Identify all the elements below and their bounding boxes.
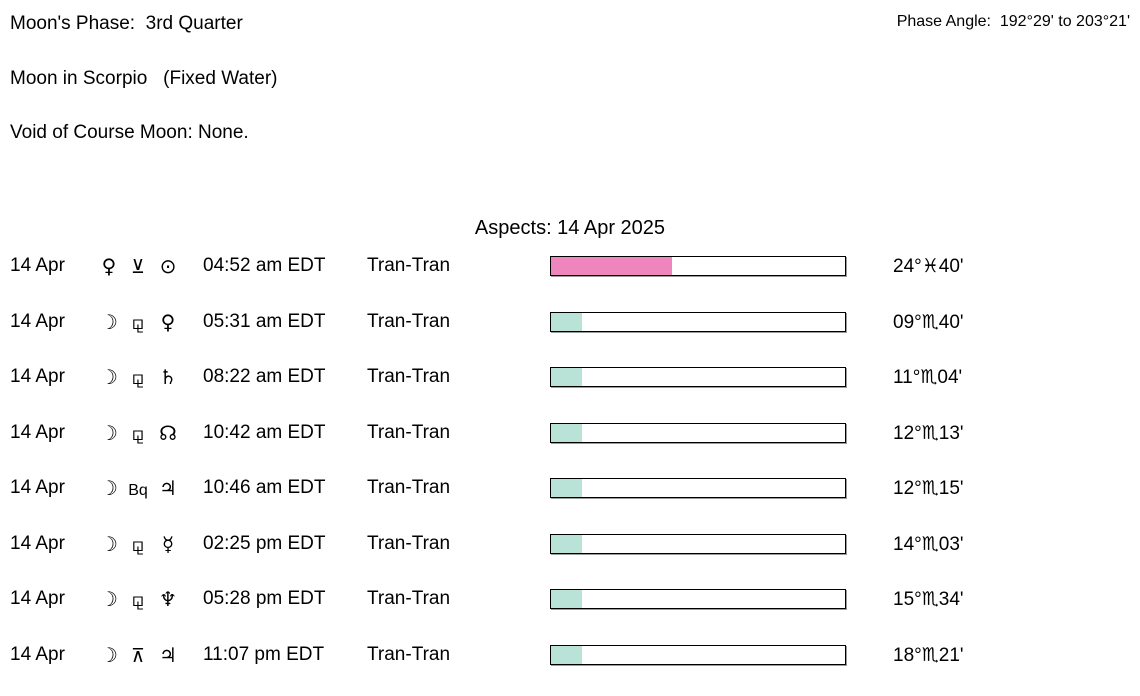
aspect-date: 14 Apr [10, 308, 65, 336]
position-minute: 03' [939, 534, 964, 555]
table-row: 14 Apr☽⊼♃11:07 pm EDTTran-Tran18°♏21' [0, 641, 1140, 696]
scorpio-icon: ♏ [922, 588, 939, 610]
phase-angle-label: Phase Angle: 192°29' to 203°21' [897, 12, 1130, 31]
aspect-position: 15°♏34' [893, 585, 964, 614]
aspect-strength-bar-fill [551, 535, 582, 553]
aspect-position: 18°♏21' [893, 641, 964, 670]
aspects-title: Aspects: 14 Apr 2025 [0, 216, 1140, 240]
aspect-time: 10:42 am EDT [203, 419, 326, 447]
aspect-strength-bar-fill [551, 479, 582, 497]
position-degree: 12° [893, 478, 922, 499]
scorpio-icon: ♏ [922, 477, 939, 499]
position-minute: 40' [939, 256, 964, 277]
jupiter-icon: ♃ [155, 641, 181, 669]
mercury-icon: ☿ [155, 530, 181, 558]
table-row: 14 Apr☽⚼♄08:22 am EDTTran-Tran11°♏04' [0, 363, 1140, 419]
aspect-glyph-group: ☽⊼♃ [97, 641, 207, 671]
biquintile-icon: Bq [121, 477, 155, 505]
aspect-glyph-group: ♀⊻⊙ [97, 252, 207, 282]
aspect-strength-bar-fill [551, 646, 582, 664]
scorpio-icon: ♏ [922, 422, 939, 444]
position-degree: 14° [893, 534, 922, 555]
aspects-table: 14 Apr♀⊻⊙04:52 am EDTTran-Tran24°♓40'14 … [0, 252, 1140, 696]
aspect-time: 11:07 pm EDT [203, 641, 324, 669]
aspect-date: 14 Apr [10, 530, 65, 558]
table-row: 14 Apr☽Bq♃10:46 am EDTTran-Tran12°♏15' [0, 474, 1140, 530]
position-degree: 11° [893, 367, 920, 388]
moon-icon: ☽ [97, 585, 121, 613]
moon-icon: ☽ [97, 419, 121, 447]
scorpio-icon: ♏ [920, 366, 937, 388]
aspect-strength-bar [550, 312, 846, 332]
aspect-glyph-group: ☽⚼♆ [97, 585, 207, 615]
position-minute: 15' [939, 478, 964, 499]
aspect-type: Tran-Tran [367, 419, 450, 447]
table-row: 14 Apr☽⚼☊10:42 am EDTTran-Tran12°♏13' [0, 419, 1140, 475]
position-degree: 18° [893, 645, 922, 666]
aspect-strength-bar-fill [551, 424, 582, 442]
position-degree: 15° [893, 589, 922, 610]
aspect-time: 04:52 am EDT [203, 252, 326, 280]
moon-sign-label: Moon in Scorpio (Fixed Water) [10, 68, 278, 90]
aspect-position: 24°♓40' [893, 252, 964, 281]
sesquiquadrate-icon: ⚼ [121, 531, 155, 559]
position-degree: 24° [893, 256, 922, 277]
aspect-strength-bar [550, 478, 846, 498]
aspect-date: 14 Apr [10, 419, 65, 447]
position-minute: 04' [937, 367, 962, 388]
aspect-strength-bar [550, 367, 846, 387]
scorpio-icon: ♏ [922, 533, 939, 555]
jupiter-icon: ♃ [155, 474, 181, 502]
moon-icon: ☽ [97, 474, 121, 502]
aspect-type: Tran-Tran [367, 363, 450, 391]
aspect-date: 14 Apr [10, 474, 65, 502]
aspect-position: 14°♏03' [893, 530, 964, 559]
table-row: 14 Apr☽⚼♀05:31 am EDTTran-Tran09°♏40' [0, 308, 1140, 364]
venus-icon: ♀ [155, 308, 181, 336]
aspect-time: 05:31 am EDT [203, 308, 326, 336]
aspect-strength-bar [550, 534, 846, 554]
aspect-type: Tran-Tran [367, 252, 450, 280]
aspect-time: 08:22 am EDT [203, 363, 326, 391]
position-minute: 40' [939, 312, 964, 333]
position-minute: 21' [939, 645, 964, 666]
aspect-position: 11°♏04' [893, 363, 962, 392]
aspect-date: 14 Apr [10, 641, 65, 669]
void-of-course-label: Void of Course Moon: None. [10, 122, 249, 144]
aspect-type: Tran-Tran [367, 530, 450, 558]
aspect-date: 14 Apr [10, 363, 65, 391]
aspect-type: Tran-Tran [367, 308, 450, 336]
sesquiquadrate-icon: ⚼ [121, 364, 155, 392]
sesquiquadrate-icon: ⚼ [121, 309, 155, 337]
table-row: 14 Apr♀⊻⊙04:52 am EDTTran-Tran24°♓40' [0, 252, 1140, 308]
aspect-type: Tran-Tran [367, 585, 450, 613]
north-node-icon: ☊ [155, 419, 181, 447]
scorpio-icon: ♏ [922, 644, 939, 666]
neptune-icon: ♆ [155, 585, 181, 613]
table-row: 14 Apr☽⚼♆05:28 pm EDTTran-Tran15°♏34' [0, 585, 1140, 641]
aspect-date: 14 Apr [10, 585, 65, 613]
venus-icon: ♀ [97, 252, 121, 280]
aspect-time: 10:46 am EDT [203, 474, 326, 502]
moon-phase-label: Moon's Phase: 3rd Quarter [10, 13, 243, 35]
moon-info-header: Moon's Phase: 3rd Quarter Moon in Scorpi… [0, 0, 1140, 200]
aspect-strength-bar-fill [551, 313, 582, 331]
aspect-glyph-group: ☽⚼♄ [97, 363, 207, 393]
quincunx-icon: ⊻ [121, 253, 155, 281]
position-minute: 34' [939, 589, 964, 610]
saturn-icon: ♄ [155, 363, 181, 391]
sesquiquadrate-icon: ⚼ [121, 420, 155, 448]
aspect-strength-bar-fill [551, 257, 672, 275]
aspect-position: 12°♏13' [893, 419, 964, 448]
aspect-time: 02:25 pm EDT [203, 530, 326, 558]
aspect-date: 14 Apr [10, 252, 65, 280]
aspect-strength-bar-fill [551, 368, 582, 386]
aspect-type: Tran-Tran [367, 474, 450, 502]
moon-icon: ☽ [97, 530, 121, 558]
aspect-glyph-group: ☽⚼♀ [97, 308, 207, 338]
table-row: 14 Apr☽⚼☿02:25 pm EDTTran-Tran14°♏03' [0, 530, 1140, 586]
moon-icon: ☽ [97, 308, 121, 336]
sun-icon: ⊙ [155, 252, 181, 280]
position-degree: 09° [893, 312, 922, 333]
position-degree: 12° [893, 423, 922, 444]
aspect-strength-bar [550, 423, 846, 443]
aspect-type: Tran-Tran [367, 641, 450, 669]
aspect-strength-bar-fill [551, 590, 582, 608]
moon-icon: ☽ [97, 641, 121, 669]
aspect-glyph-group: ☽⚼☊ [97, 419, 207, 449]
aspect-glyph-group: ☽Bq♃ [97, 474, 207, 505]
aspect-strength-bar [550, 256, 846, 276]
sesquiquadrate-icon: ⚼ [121, 586, 155, 614]
aspect-time: 05:28 pm EDT [203, 585, 326, 613]
position-minute: 13' [939, 423, 964, 444]
aspect-glyph-group: ☽⚼☿ [97, 530, 207, 560]
pisces-icon: ♓ [922, 255, 939, 277]
aspect-strength-bar [550, 589, 846, 609]
aspect-strength-bar [550, 645, 846, 665]
aspect-position: 12°♏15' [893, 474, 964, 503]
moon-icon: ☽ [97, 363, 121, 391]
aspect-position: 09°♏40' [893, 308, 964, 337]
sesquisquare-icon: ⊼ [121, 642, 155, 670]
scorpio-icon: ♏ [922, 311, 939, 333]
